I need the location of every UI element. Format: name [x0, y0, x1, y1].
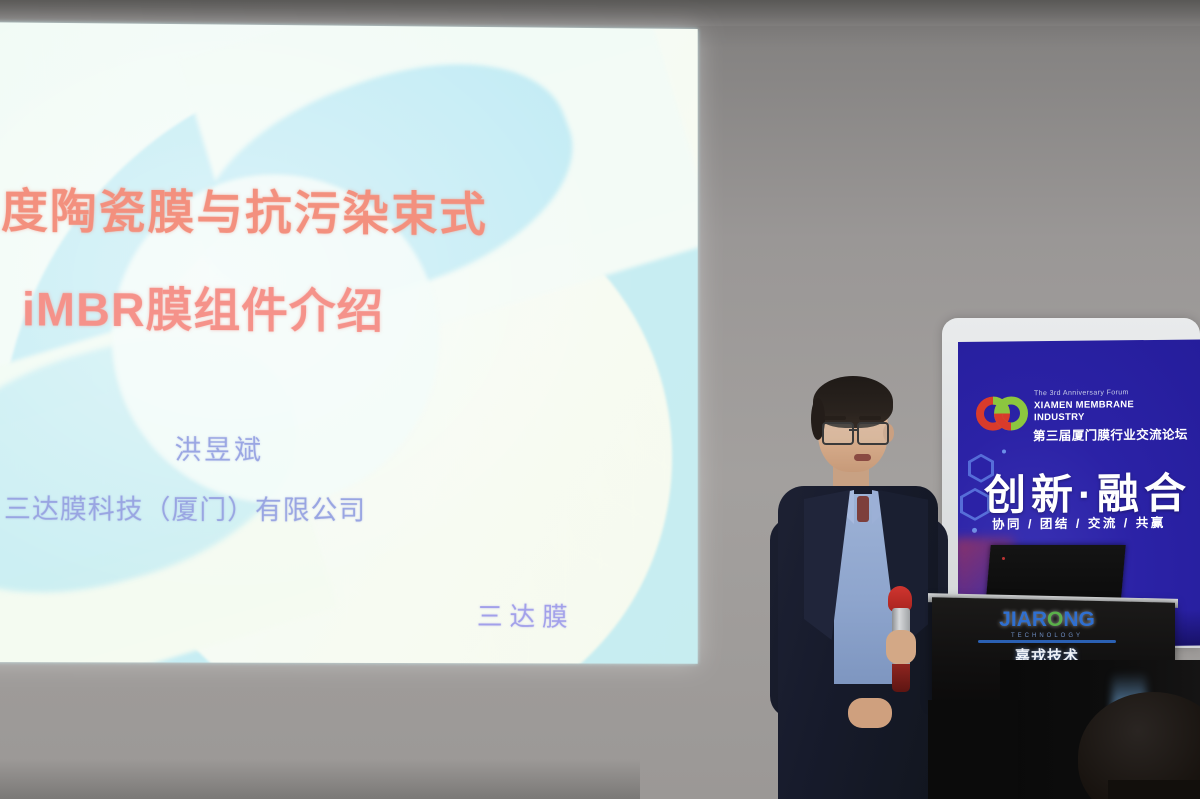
presenter-lower-hand: [848, 698, 892, 728]
podium-logo-tagline: TECHNOLOGY: [972, 633, 1122, 639]
slide-presenter-name: 洪昱斌: [174, 428, 263, 467]
podium-logo-en-o: O: [1047, 608, 1063, 631]
presenter-eyebrow-right: [859, 416, 881, 420]
audience-member-neck: [1108, 780, 1200, 799]
banner-eyebrow-text: The 3rd Anniversary Forum: [1034, 389, 1129, 397]
slide-decoration-ring: [0, 56, 698, 663]
microphone-base: [892, 664, 910, 692]
conference-photo-scene: 强度陶瓷膜与抗污染束式 iMBR膜组件介绍 洪昱斌 三达膜科技（厦门）有限公司 …: [0, 0, 1200, 799]
laptop-indicator-led-icon: [1002, 557, 1005, 560]
banner-title-en-line-1: XIAMEN MEMBRANE: [1034, 399, 1134, 411]
presenter-hand-holding-microphone: [886, 630, 916, 664]
presenter-hair: [813, 376, 893, 428]
ceiling-shadow-band: [0, 0, 1200, 26]
presenter-eyebrow-left: [824, 416, 846, 420]
slide-title-line-1: 强度陶瓷膜与抗污染束式: [0, 172, 488, 245]
banner-sub-slogan: 协同 / 团结 / 交流 / 共赢: [992, 512, 1166, 533]
slide-decoration-mask-bottom: [0, 292, 338, 663]
presenter-glasses-left-lens: [822, 422, 854, 445]
presenter-glasses-bridge: [849, 429, 858, 431]
podium-front-shadow: [928, 700, 1018, 799]
podium-logo-english: JIARONG: [972, 608, 1122, 632]
banner-title-cn: 第三届厦门膜行业交流论坛: [1033, 424, 1188, 445]
slide-decoration-swoosh-lower: [0, 303, 324, 632]
podium-logo-en-part-2: NG: [1063, 608, 1095, 631]
presenter-collar-gap: [857, 496, 869, 522]
projected-slide: 强度陶瓷膜与抗污染束式 iMBR膜组件介绍 洪昱斌 三达膜科技（厦门）有限公司 …: [0, 22, 698, 664]
banner-title-en-line-2: INDUSTRY: [1034, 412, 1085, 424]
podium-logo-en-part-1: JIAR: [999, 608, 1047, 631]
slide-presenter-organization: 三达膜科技（厦门）有限公司: [4, 487, 366, 527]
podium-logo-underline: [978, 640, 1116, 643]
presenter-mouth: [854, 454, 871, 461]
slide-brand-logo-text: 三达膜: [477, 597, 575, 634]
presenter-glasses-right-lens: [857, 422, 889, 445]
floor-shadow: [0, 759, 640, 799]
slide-title-line-2: iMBR膜组件介绍: [22, 270, 384, 341]
podium-logo: JIARONG TECHNOLOGY 嘉戎技术: [972, 608, 1122, 666]
dot-decoration-icon: [1002, 449, 1006, 453]
